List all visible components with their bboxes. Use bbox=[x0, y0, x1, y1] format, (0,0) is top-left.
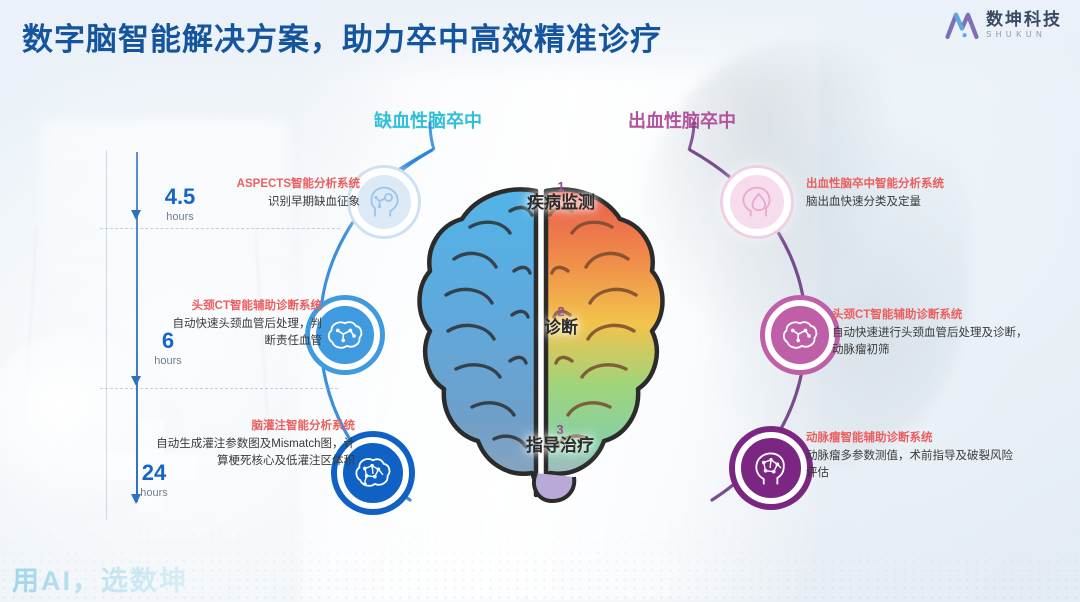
stage-label-3: 3 指导治疗 bbox=[490, 423, 630, 456]
stage-number: 2 bbox=[506, 305, 616, 318]
feature-title: 头颈CT智能辅助诊断系统 bbox=[172, 298, 322, 314]
feature-title: 脑灌注智能分析系统 bbox=[150, 418, 355, 434]
head-aneurysm-network-icon bbox=[751, 449, 791, 487]
icon-badge-aneurysm[interactable] bbox=[735, 432, 807, 504]
feature-block-headneck-ct-right: 头颈CT智能辅助诊断系统 自动快速进行头颈血管后处理及诊断，动脉瘤初筛 bbox=[832, 307, 1037, 358]
brain-network-icon bbox=[353, 455, 393, 491]
feature-title: 出血性脑卒中智能分析系统 bbox=[806, 176, 1021, 192]
head-blood-drop-icon bbox=[739, 184, 775, 220]
head-circuit-icon bbox=[366, 184, 402, 220]
timeline-item-2: 6 hours bbox=[140, 330, 196, 367]
timeline-guide-line bbox=[106, 150, 107, 520]
feature-desc: 动脉瘤多参数测值，术前指导及破裂风险评估 bbox=[806, 448, 1021, 481]
icon-badge-headneck-ct-right[interactable] bbox=[765, 300, 835, 370]
infographic-canvas: 数字脑智能解决方案，助力卒中高效精准诊疗 数坤科技 SHUKUN 缺血性脑卒中 … bbox=[0, 0, 1080, 602]
stage-number: 3 bbox=[490, 423, 630, 436]
stage-text: 疾病监测 bbox=[496, 193, 626, 213]
feature-block-aneurysm: 动脉瘤智能辅助诊断系统 动脉瘤多参数测值，术前指导及破裂风险评估 bbox=[806, 430, 1021, 481]
brain-circuit-icon bbox=[326, 318, 364, 352]
timeline-unit: hours bbox=[152, 211, 208, 223]
timeline-arrow bbox=[131, 376, 141, 386]
feature-block-hemorrhage: 出血性脑卒中智能分析系统 脑出血快速分类及定量 bbox=[806, 176, 1021, 211]
stage-label-1: 1 疾病监测 bbox=[496, 180, 626, 213]
feature-title: 头颈CT智能辅助诊断系统 bbox=[832, 307, 1037, 323]
timeline-unit: hours bbox=[126, 487, 182, 499]
feature-desc: 自动快速进行头颈血管后处理及诊断，动脉瘤初筛 bbox=[832, 325, 1037, 358]
feature-desc: 脑出血快速分类及定量 bbox=[806, 194, 1021, 210]
stage-label-2: 2 诊断 bbox=[506, 305, 616, 338]
timeline-value: 24 bbox=[126, 462, 182, 484]
timeline-item-1: 4.5 hours bbox=[152, 186, 208, 223]
timeline-unit: hours bbox=[140, 355, 196, 367]
icon-badge-hemorrhage[interactable] bbox=[723, 168, 791, 236]
brain-circuit-icon bbox=[781, 318, 819, 352]
footer-slogan: 用AI，选数坤 bbox=[12, 559, 188, 598]
stage-number: 1 bbox=[496, 180, 626, 193]
timeline-value: 4.5 bbox=[152, 186, 208, 208]
stage-text: 诊断 bbox=[506, 318, 616, 338]
icon-badge-aspects[interactable] bbox=[350, 168, 418, 236]
timeline-item-3: 24 hours bbox=[126, 462, 182, 499]
timeline-arrow bbox=[131, 210, 141, 220]
stage-text: 指导治疗 bbox=[490, 436, 630, 456]
timeline-value: 6 bbox=[140, 330, 196, 352]
timeline-axis bbox=[136, 152, 138, 502]
feature-title: 动脉瘤智能辅助诊断系统 bbox=[806, 430, 1021, 446]
